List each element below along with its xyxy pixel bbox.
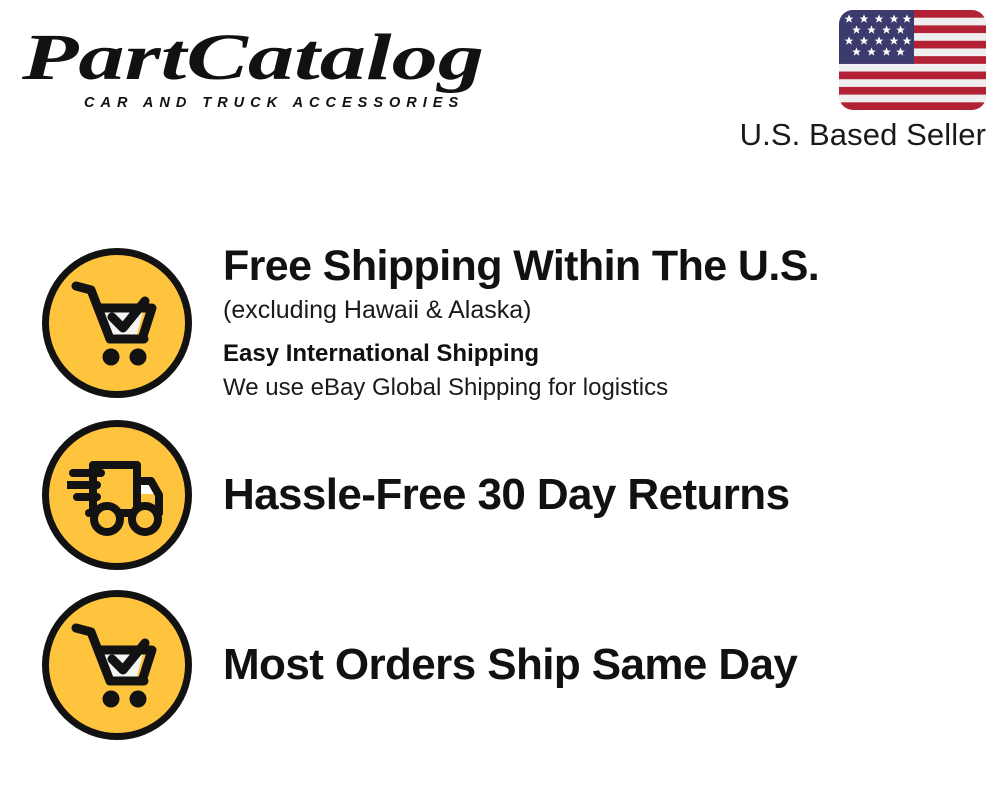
feature-text: Hassle-Free 30 Day Returns	[223, 471, 1000, 519]
shopping-cart-check-icon	[42, 590, 192, 740]
feature-row: Hassle-Free 30 Day Returns	[0, 420, 1000, 570]
partcatalog-wordmark-icon: PartCatalog	[22, 22, 488, 94]
feature-description: We use eBay Global Shipping for logistic…	[223, 372, 980, 403]
brand-logo: PartCatalog CAR AND TRUCK ACCESSORIES	[22, 22, 492, 111]
brand-tagline: CAR AND TRUCK ACCESSORIES	[84, 95, 492, 111]
us-based-seller-badge: U.S. Based Seller	[656, 10, 986, 152]
feature-text: Most Orders Ship Same Day	[223, 641, 1000, 689]
feature-row: Most Orders Ship Same Day	[0, 590, 1000, 740]
feature-note: (excluding Hawaii & Alaska)	[223, 294, 980, 328]
feature-row: Free Shipping Within The U.S. (excluding…	[0, 248, 1000, 398]
us-flag-icon	[839, 10, 986, 110]
feature-title: Hassle-Free 30 Day Returns	[223, 471, 980, 519]
shopping-cart-check-icon	[42, 248, 192, 398]
delivery-truck-icon	[42, 420, 192, 570]
page-header: PartCatalog CAR AND TRUCK ACCESSORIES	[0, 0, 1000, 170]
feature-title: Free Shipping Within The U.S.	[223, 243, 980, 289]
svg-text:PartCatalog: PartCatalog	[22, 22, 484, 94]
feature-text: Free Shipping Within The U.S. (excluding…	[223, 243, 1000, 404]
us-based-seller-label: U.S. Based Seller	[656, 119, 986, 152]
feature-title: Most Orders Ship Same Day	[223, 641, 980, 689]
feature-subtitle: Easy International Shipping	[223, 338, 980, 369]
